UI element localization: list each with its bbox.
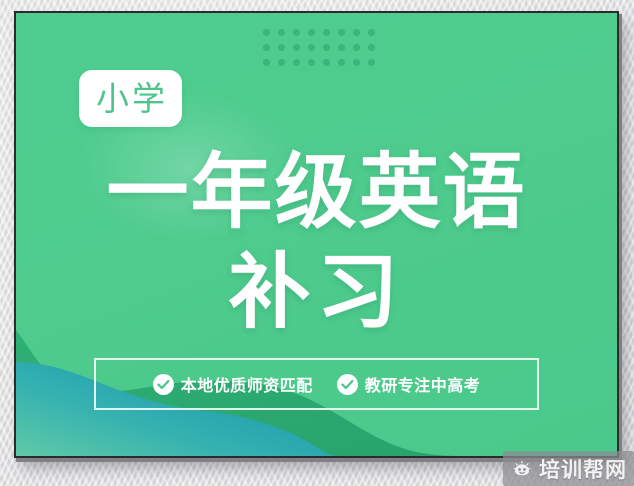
grid-dot	[263, 59, 270, 66]
grid-dot	[278, 59, 285, 66]
title-line-1: 一年级英语	[16, 144, 617, 242]
check-circle-icon	[337, 374, 358, 395]
grid-dot	[308, 59, 315, 66]
grid-dot	[338, 44, 345, 51]
sun-face-icon	[511, 458, 533, 480]
grade-badge-label: 小学	[93, 82, 168, 115]
grid-dot	[353, 44, 360, 51]
feature-item: 本地优质师资匹配	[153, 372, 313, 396]
grid-dot	[308, 44, 315, 51]
grid-dot	[308, 29, 315, 36]
feature-list: 本地优质师资匹配 教研专注中高考	[94, 358, 539, 410]
grid-dot	[368, 44, 375, 51]
grid-dot	[293, 59, 300, 66]
feature-item: 教研专注中高考	[337, 372, 481, 396]
grid-dot	[323, 59, 330, 66]
grid-dot	[293, 29, 300, 36]
grid-dot	[293, 44, 300, 51]
grid-dot	[263, 44, 270, 51]
grid-dot	[338, 59, 345, 66]
grid-dot	[323, 44, 330, 51]
feature-label: 本地优质师资匹配	[181, 372, 313, 396]
grid-dot	[278, 29, 285, 36]
grid-dot	[263, 29, 270, 36]
grid-dot	[338, 29, 345, 36]
grid-dot	[353, 59, 360, 66]
grid-dot	[278, 44, 285, 51]
grade-badge: 小学	[79, 70, 182, 127]
grid-dot	[368, 59, 375, 66]
grid-dot	[368, 29, 375, 36]
grid-dot	[353, 29, 360, 36]
title-line-2: 补习	[16, 244, 617, 342]
check-circle-icon	[153, 374, 174, 395]
watermark-label: 培训帮网	[539, 454, 627, 484]
watermark: 培训帮网	[503, 451, 634, 486]
dot-grid-decoration	[263, 29, 383, 74]
poster-root: 小学 一年级英语 补习 本地优质师资匹配	[0, 0, 634, 486]
page-title: 一年级英语 补习	[16, 144, 617, 342]
poster-card: 小学 一年级英语 补习 本地优质师资匹配	[14, 11, 619, 458]
grid-dot	[323, 29, 330, 36]
feature-label: 教研专注中高考	[365, 372, 481, 396]
